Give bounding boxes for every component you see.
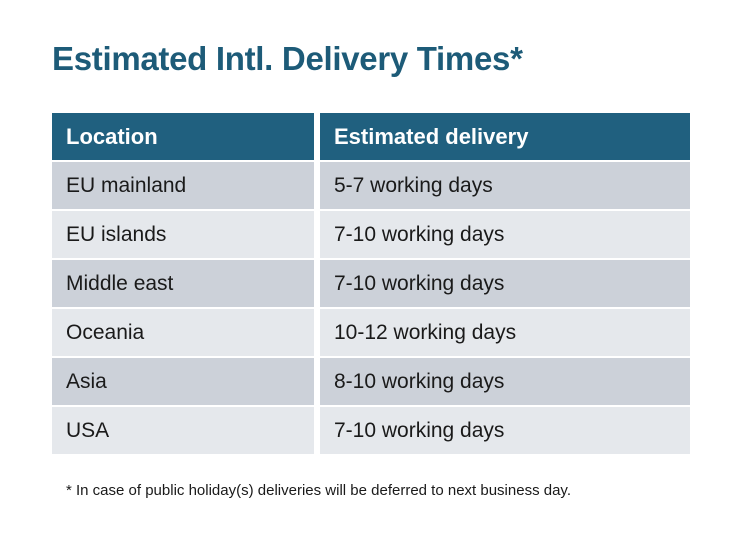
table-row: EU mainland 5-7 working days [52, 162, 690, 209]
cell-location: EU islands [52, 211, 314, 258]
table-row: EU islands 7-10 working days [52, 211, 690, 258]
cell-location: Asia [52, 358, 314, 405]
cell-location: USA [52, 407, 314, 454]
table-row: Oceania 10-12 working days [52, 309, 690, 356]
footnote-text: * In case of public holiday(s) deliverie… [66, 481, 571, 501]
delivery-times-page: Estimated Intl. Delivery Times* Location… [0, 0, 745, 536]
cell-location: Middle east [52, 260, 314, 307]
estimated-delivery-table: Location Estimated delivery EU mainland … [52, 113, 690, 456]
table-row: Middle east 7-10 working days [52, 260, 690, 307]
cell-estimated-delivery: 7-10 working days [320, 211, 690, 258]
cell-estimated-delivery: 7-10 working days [320, 407, 690, 454]
cell-estimated-delivery: 7-10 working days [320, 260, 690, 307]
column-header-location: Location [52, 113, 314, 160]
table-row: Asia 8-10 working days [52, 358, 690, 405]
cell-estimated-delivery: 10-12 working days [320, 309, 690, 356]
column-header-estimated-delivery: Estimated delivery [320, 113, 690, 160]
cell-estimated-delivery: 5-7 working days [320, 162, 690, 209]
table-header-row: Location Estimated delivery [52, 113, 690, 160]
cell-location: Oceania [52, 309, 314, 356]
cell-location: EU mainland [52, 162, 314, 209]
table-row: USA 7-10 working days [52, 407, 690, 454]
cell-estimated-delivery: 8-10 working days [320, 358, 690, 405]
page-title: Estimated Intl. Delivery Times* [52, 38, 523, 80]
